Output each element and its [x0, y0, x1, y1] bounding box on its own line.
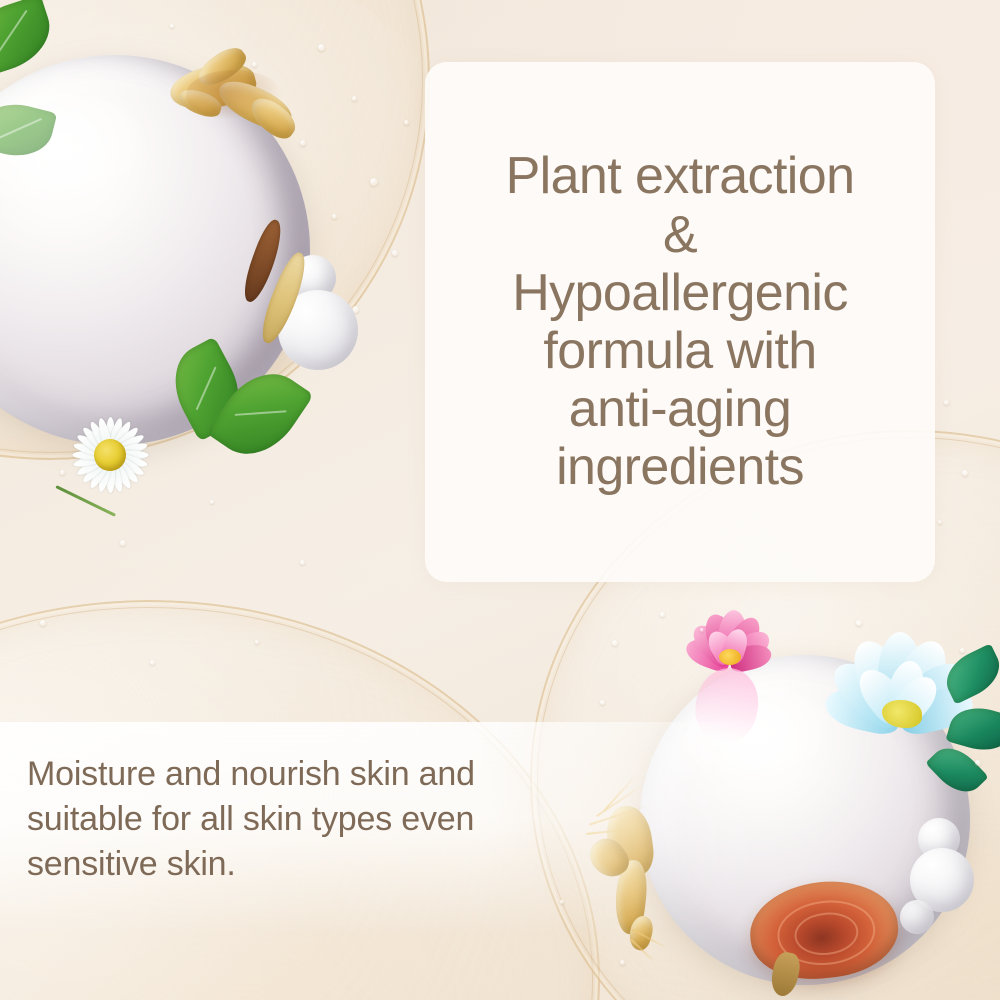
- headline-line-3: Hypoallergenic: [506, 264, 855, 322]
- leaf-mid-left: [0, 96, 57, 164]
- peony-blue-leaf: [938, 643, 1000, 704]
- water-droplets: [210, 500, 214, 504]
- headline-panel: Plant extraction & Hypoallergenic formul…: [425, 62, 935, 582]
- water-droplets: [150, 660, 155, 665]
- headline-line-5: anti-aging: [506, 380, 855, 438]
- water-droplets: [286, 262, 290, 266]
- water-droplets: [300, 140, 306, 146]
- caption-line-3: sensitive skin.: [27, 842, 617, 887]
- headline-line-4: formula with: [506, 322, 855, 380]
- leaf-center: [159, 336, 254, 441]
- water-droplets: [600, 700, 605, 705]
- water-droplets: [252, 62, 257, 67]
- water-droplets: [612, 640, 618, 646]
- water-blob-large: [278, 290, 358, 370]
- headline-line-6: ingredients: [506, 438, 855, 496]
- banner-canvas: Plant extraction & Hypoallergenic formul…: [0, 0, 1000, 1000]
- gel-sheen-top-left: [0, 0, 460, 380]
- glass-petri-dish-top-left: [0, 0, 430, 460]
- water-droplets: [938, 520, 942, 524]
- water-droplets: [332, 214, 337, 219]
- water-droplets: [370, 178, 378, 186]
- page-title: Plant extraction & Hypoallergenic formul…: [492, 147, 869, 496]
- serum-bubble-rim-shade: [0, 55, 310, 445]
- caption-line-1: Moisture and nourish skin and: [27, 752, 617, 797]
- water-droplets: [962, 470, 968, 476]
- water-droplets: [60, 470, 65, 475]
- water-droplets: [944, 400, 949, 405]
- water-droplets: [300, 560, 305, 565]
- water-droplets: [856, 620, 862, 626]
- turmeric-chip: [238, 217, 288, 305]
- water-droplets: [404, 120, 409, 125]
- water-droplets: [660, 612, 665, 617]
- caption-line-2: suitable for all skin types even: [27, 797, 617, 842]
- ginseng-root-top: [162, 48, 312, 153]
- water-droplets: [392, 250, 398, 256]
- water-droplets: [120, 540, 126, 546]
- headline-line-2: &: [506, 206, 855, 264]
- caption-text: Moisture and nourish skin and suitable f…: [27, 752, 617, 888]
- water-droplets: [620, 960, 625, 965]
- water-droplets: [700, 628, 704, 632]
- water-droplets: [255, 640, 259, 644]
- headline-line-1: Plant extraction: [506, 147, 855, 205]
- turmeric-chip: [255, 249, 313, 347]
- water-droplets: [352, 306, 359, 313]
- water-droplets: [40, 620, 46, 626]
- leaf-top-left: [0, 0, 59, 80]
- water-droplets: [960, 648, 965, 653]
- water-droplets: [352, 96, 357, 101]
- water-droplets: [318, 44, 325, 51]
- leaf-center-right: [206, 357, 314, 471]
- serum-bubble-top-left: [0, 55, 310, 445]
- water-blob-small: [290, 255, 336, 301]
- water-droplets: [170, 24, 174, 28]
